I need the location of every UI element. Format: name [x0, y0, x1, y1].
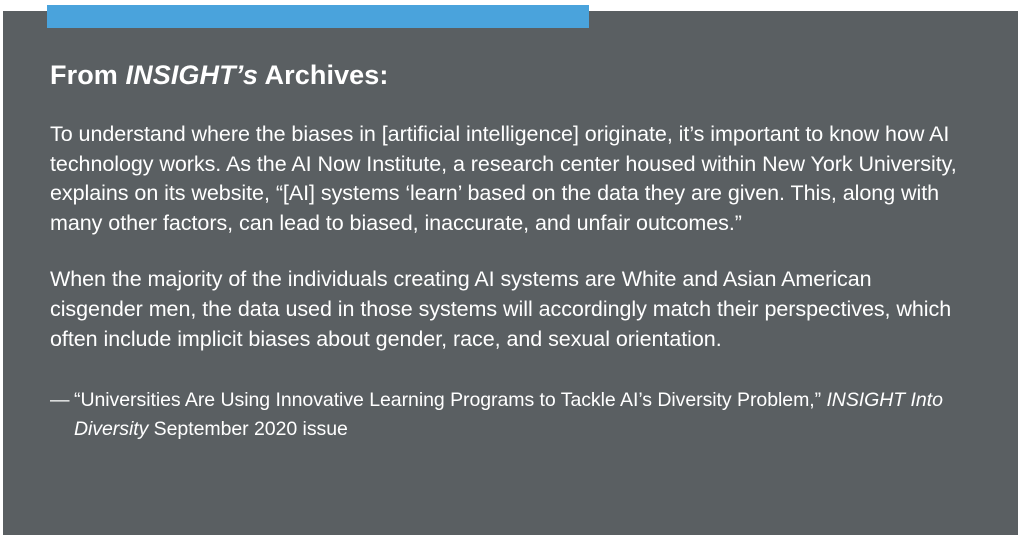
attribution: —“Universities Are Using Innovative Lear… [50, 386, 974, 444]
attribution-dash: — [50, 386, 69, 415]
accent-bar [47, 5, 589, 28]
attribution-issue: September 2020 issue [148, 418, 348, 440]
body-paragraph: When the majority of the individuals cre… [50, 265, 962, 354]
content-panel: From INSIGHT’s Archives: To understand w… [3, 11, 1018, 535]
title-emphasis: INSIGHT’s [126, 60, 258, 90]
title-prefix: From [50, 60, 126, 90]
page-title: From INSIGHT’s Archives: [50, 58, 980, 92]
attribution-article-title: “Universities Are Using Innovative Learn… [74, 389, 826, 411]
content-area: From INSIGHT’s Archives: To understand w… [50, 58, 980, 464]
title-suffix: Archives: [258, 60, 389, 90]
body-paragraph: To understand where the biases in [artif… [50, 120, 962, 238]
quote-slide: From INSIGHT’s Archives: To understand w… [0, 0, 1024, 535]
